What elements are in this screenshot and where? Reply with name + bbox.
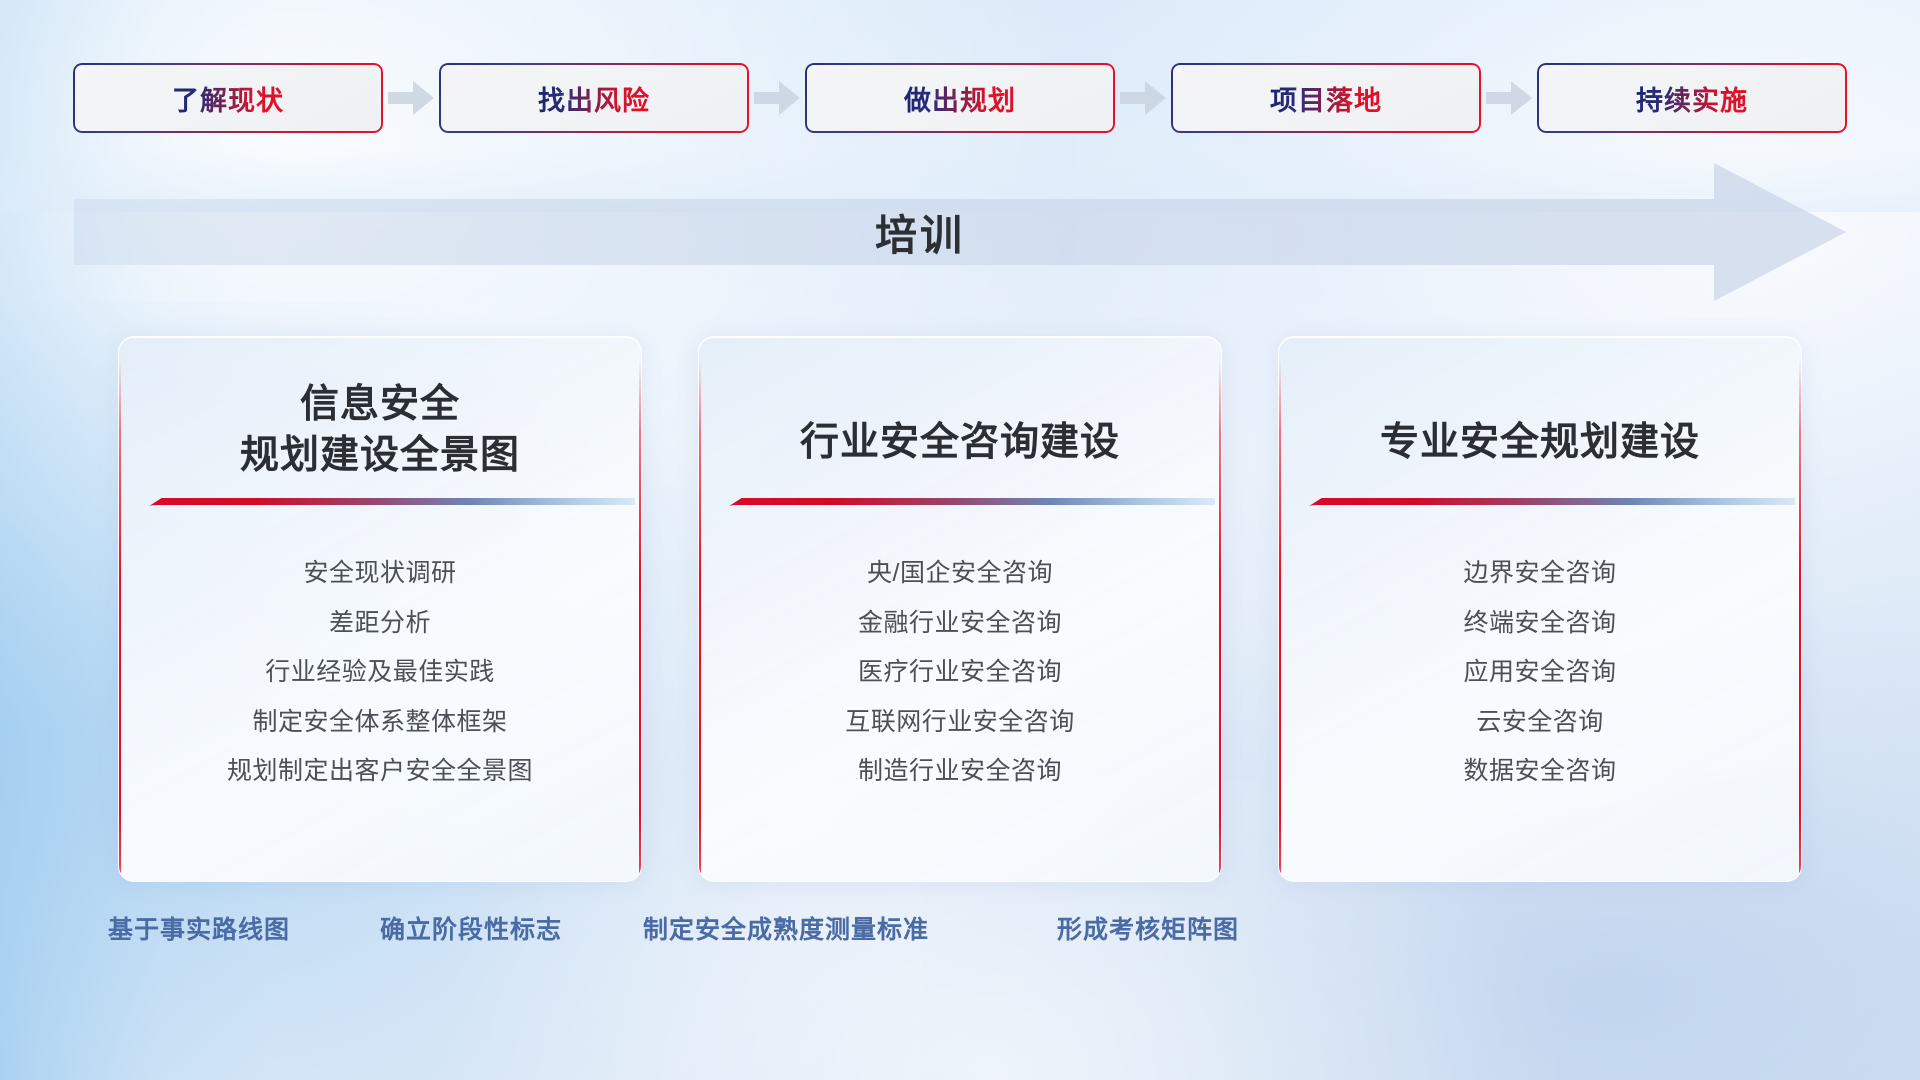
list-item[interactable]: 差距分析 [329, 603, 431, 645]
list-item[interactable]: 医疗行业安全咨询 [858, 652, 1062, 694]
card-2-accent-bar [721, 495, 1215, 513]
footer-label-4: 形成考核矩阵图 [1057, 910, 1239, 946]
step-box-5[interactable]: 持续实施 [1537, 63, 1847, 133]
card-2-title-line-1: 行业安全咨询建设 [725, 417, 1195, 468]
footer-label-1: 基于事实路线图 [108, 910, 290, 946]
card-3-title: 专业安全规划建设 [1279, 371, 1801, 468]
card-2-title: 行业安全咨询建设 [699, 371, 1221, 468]
card-1-title: 信息安全 规划建设全景图 [119, 371, 641, 482]
step-box-2[interactable]: 找出风险 [439, 63, 749, 133]
step-label-5: 持续实施 [1636, 79, 1748, 118]
step-label-3: 做出规划 [904, 79, 1016, 118]
list-item[interactable]: 数据安全咨询 [1463, 751, 1616, 793]
list-item[interactable]: 互联网行业安全咨询 [845, 702, 1075, 744]
list-item[interactable]: 行业经验及最佳实践 [265, 652, 495, 694]
list-item[interactable]: 金融行业安全咨询 [858, 603, 1062, 645]
footer-label-3: 制定安全成熟度测量标准 [643, 910, 929, 946]
step-box-4[interactable]: 项目落地 [1171, 63, 1481, 133]
step-label-1: 了解现状 [172, 79, 284, 118]
step-box-1[interactable]: 了解现状 [73, 63, 383, 133]
arrow-right-icon [1481, 63, 1537, 133]
card-3[interactable]: 专业安全规划建设 边界安全咨询 终端安全咨询 [1278, 336, 1802, 882]
list-item[interactable]: 规划制定出客户安全全景图 [227, 751, 533, 793]
card-3-list: 边界安全咨询 终端安全咨询 应用安全咨询 云安全咨询 数据安全咨询 [1279, 553, 1801, 793]
card-1-accent-bar [141, 495, 635, 513]
cards-row: 信息安全 规划建设全景图 安全现状调研 [0, 336, 1920, 882]
card-1-title-line-2: 规划建设全景图 [145, 430, 615, 481]
card-3-accent-bar [1301, 495, 1795, 513]
training-banner: 培训 [74, 163, 1846, 301]
list-item[interactable]: 终端安全咨询 [1463, 603, 1616, 645]
card-3-title-line-1: 专业安全规划建设 [1305, 417, 1775, 468]
arrow-right-icon [383, 63, 439, 133]
card-1-title-line-1: 信息安全 [145, 379, 615, 430]
step-label-2: 找出风险 [538, 79, 650, 118]
card-1[interactable]: 信息安全 规划建设全景图 安全现状调研 [118, 336, 642, 882]
arrow-right-icon [749, 63, 805, 133]
process-steps-row: 了解现状 找出风险 做出规划 项目落地 持续实施 [0, 62, 1920, 134]
banner-label: 培训 [875, 202, 965, 263]
card-1-list: 安全现状调研 差距分析 行业经验及最佳实践 制定安全体系整体框架 规划制定出客户… [119, 553, 641, 793]
banner-text-wrap: 培训 [74, 163, 1766, 301]
arrow-right-icon [1115, 63, 1171, 133]
list-item[interactable]: 应用安全咨询 [1463, 652, 1616, 694]
footer-label-2: 确立阶段性标志 [380, 910, 562, 946]
step-box-3[interactable]: 做出规划 [805, 63, 1115, 133]
card-2[interactable]: 行业安全咨询建设 央/国企安全咨询 金融行业安全咨 [698, 336, 1222, 882]
list-item[interactable]: 制定安全体系整体框架 [252, 702, 507, 744]
card-2-list: 央/国企安全咨询 金融行业安全咨询 医疗行业安全咨询 互联网行业安全咨询 制造行… [699, 553, 1221, 793]
list-item[interactable]: 边界安全咨询 [1463, 553, 1616, 595]
list-item[interactable]: 安全现状调研 [303, 553, 456, 595]
list-item[interactable]: 云安全咨询 [1476, 702, 1604, 744]
step-label-4: 项目落地 [1270, 79, 1382, 118]
footer-labels-row: 基于事实路线图 确立阶段性标志 制定安全成熟度测量标准 形成考核矩阵图 [0, 910, 1920, 970]
list-item[interactable]: 制造行业安全咨询 [858, 751, 1062, 793]
list-item[interactable]: 央/国企安全咨询 [867, 553, 1053, 595]
